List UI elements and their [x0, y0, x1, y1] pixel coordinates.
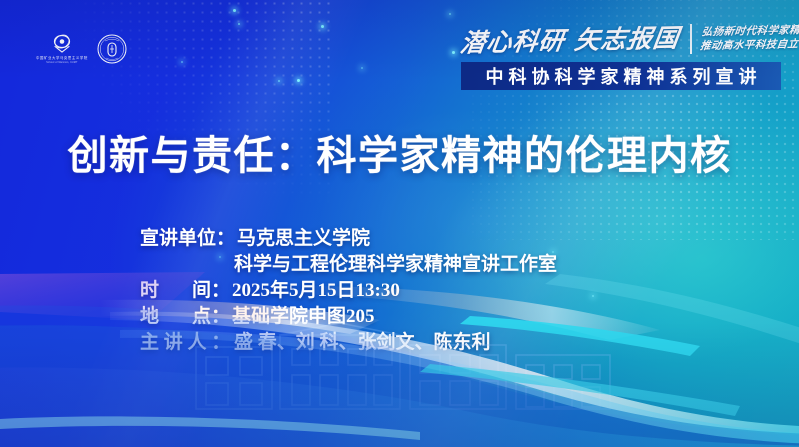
- place-label-a: 地: [140, 304, 159, 330]
- time-label: 时 间：: [140, 278, 230, 304]
- banner-divider: [690, 24, 692, 54]
- series-title-text: 中科协科学家精神系列宣讲: [481, 63, 762, 89]
- banner-sub-line-1: 弘扬新时代科学家精神: [701, 24, 799, 40]
- time-label-b: 间：: [192, 278, 230, 304]
- event-details: 宣讲单位： 马克思主义学院 科学与工程伦理科学家精神宣讲工作室 时 间： 202…: [140, 226, 557, 356]
- university-logo-cn: 中国矿业大学马克思主义学院: [36, 55, 88, 60]
- detail-row-place: 地 点： 基础学院申图205: [140, 304, 557, 330]
- poster-canvas: 中国矿业大学马克思主义学院 School of Marxism, CUMT 潜心…: [0, 0, 799, 447]
- sparkle-particle: [238, 23, 240, 25]
- place-label-b: 点：: [192, 304, 230, 330]
- detail-row-unit: 宣讲单位： 马克思主义学院: [140, 226, 557, 252]
- sparkle-particle: [449, 13, 451, 15]
- university-logo-en: School of Marxism, CUMT: [46, 62, 77, 64]
- university-logo: 中国矿业大学马克思主义学院 School of Marxism, CUMT: [36, 33, 88, 64]
- time-value: 2025年5月15日13:30: [230, 278, 400, 304]
- place-value: 基础学院申图205: [230, 304, 375, 330]
- speaker-value: 盛 春、刘 科、张剑文、陈东利: [232, 330, 491, 356]
- detail-row-time: 时 间： 2025年5月15日13:30: [140, 278, 557, 304]
- banner-subtitle: 弘扬新时代科学家精神 推动高水平科技自立自强: [699, 24, 799, 54]
- unit-label: 宣讲单位：: [140, 226, 235, 252]
- place-label: 地 点：: [140, 304, 230, 330]
- series-title-bar: 中科协科学家精神系列宣讲: [461, 62, 781, 90]
- banner-calligraphy-main: 潜心科研矢志报国: [458, 18, 682, 59]
- header-logos: 中国矿业大学马克思主义学院 School of Marxism, CUMT: [36, 33, 127, 64]
- banner-sub-line-2: 推动高水平科技自立自强: [699, 38, 799, 54]
- sparkle-particle: [233, 9, 236, 12]
- detail-row-unit-2: 科学与工程伦理科学家精神宣讲工作室: [140, 252, 557, 278]
- unit-value-2: 科学与工程伦理科学家精神宣讲工作室: [232, 252, 557, 278]
- calligraphy-right-text: 矢志报国: [573, 25, 681, 55]
- university-emblem-icon: [50, 33, 74, 53]
- speaker-label: 主 讲 人 ：: [140, 330, 232, 356]
- sparkle-particle: [321, 25, 324, 28]
- sparkle-particle: [181, 61, 183, 63]
- page-title: 创新与责任：科学家精神的伦理内核: [0, 123, 799, 181]
- calligraphy-left-text: 潜心科研: [458, 28, 566, 58]
- detail-row-speakers: 主 讲 人 ： 盛 春、刘 科、张剑文、陈东利: [140, 330, 557, 356]
- unit-value: 马克思主义学院: [235, 226, 370, 252]
- university-seal-icon: [97, 34, 127, 64]
- campaign-banner: 潜心科研矢志报国 弘扬新时代科学家精神 推动高水平科技自立自强 中科协科学家精神…: [447, 18, 799, 92]
- time-label-a: 时: [140, 278, 159, 304]
- banner-calligraphy-row: 潜心科研矢志报国 弘扬新时代科学家精神 推动高水平科技自立自强: [447, 18, 799, 60]
